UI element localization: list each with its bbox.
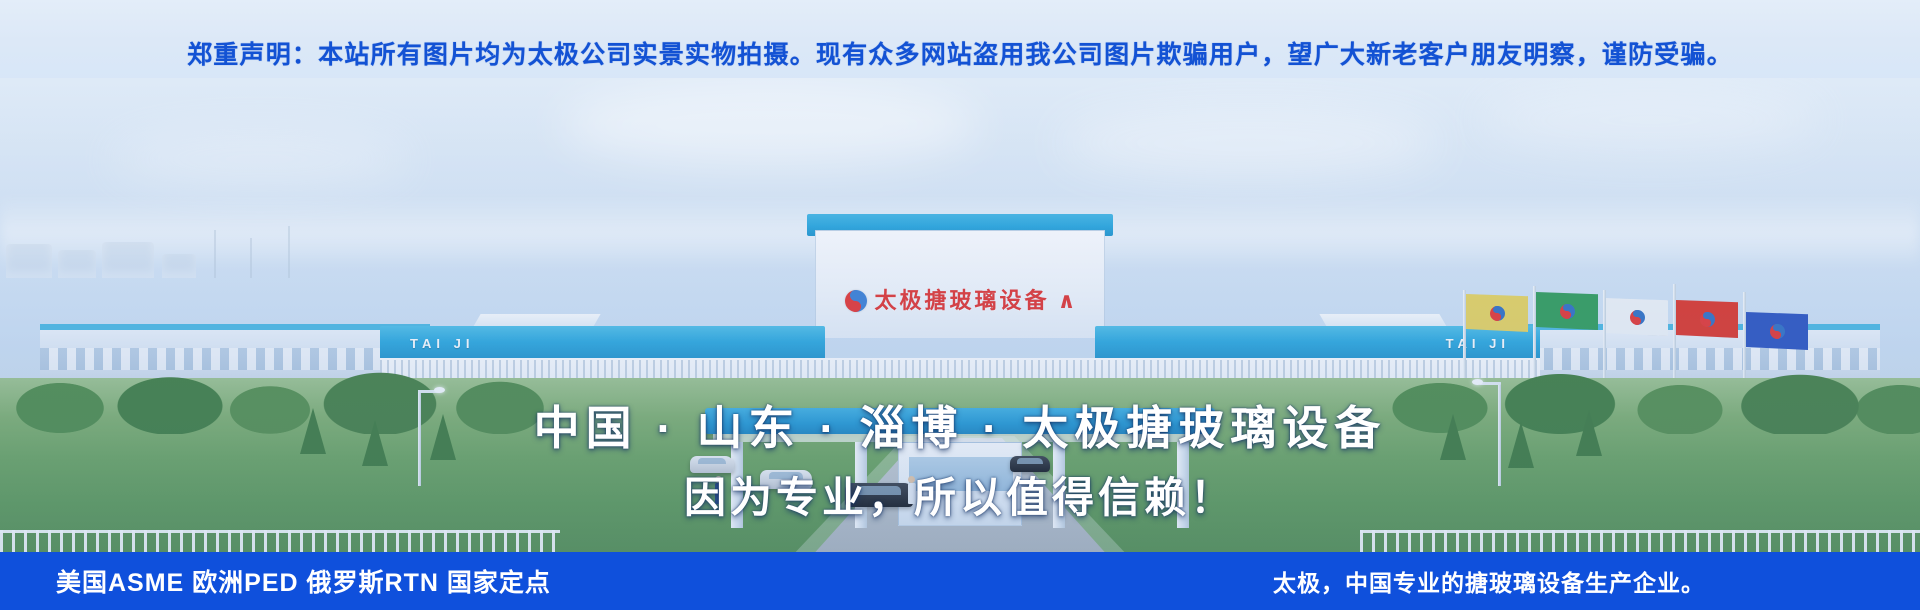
disclaimer-text: 郑重声明：本站所有图片均为太极公司实景实物拍摄。现有众多网站盗用我公司图片欺骗用… xyxy=(187,35,1733,71)
factory-photo: 太极搪玻璃设备 ∧ TAI JI TAI JI xyxy=(0,78,1920,558)
taiji-logo-icon xyxy=(845,290,867,312)
company-tagline: 太极，中国专业的搪玻璃设备生产企业。 xyxy=(1273,564,1705,598)
gate-canopy xyxy=(705,408,1215,434)
flag-yellow xyxy=(1466,294,1528,332)
light-pole xyxy=(418,390,421,486)
street-lamp-icon xyxy=(434,387,445,393)
cloud-decor xyxy=(1480,88,1820,152)
cloud-decor xyxy=(110,130,410,188)
guard-booth xyxy=(898,442,1022,526)
car-silver xyxy=(760,470,812,489)
person-figure xyxy=(715,476,722,504)
certification-text: 美国ASME 欧洲PED 俄罗斯RTN 国家定点 xyxy=(56,563,551,599)
taiji-logo-icon xyxy=(1560,304,1575,319)
flag-red xyxy=(1676,300,1738,338)
conifer-tree xyxy=(430,414,456,460)
light-pole xyxy=(1498,382,1501,486)
background-industrial-silhouette xyxy=(0,218,340,278)
car-dark xyxy=(845,483,913,507)
conifer-tree xyxy=(1508,422,1534,468)
taiji-logo-icon xyxy=(1490,306,1505,321)
taiji-logo-icon xyxy=(1700,312,1715,327)
taiji-logo-icon xyxy=(1770,324,1785,339)
roof-mark-icon: ∧ xyxy=(1058,290,1076,312)
flag-green xyxy=(1536,292,1598,330)
gate-canopy-underside xyxy=(713,434,1207,442)
building-sign: 太极搪玻璃设备 ∧ xyxy=(840,284,1080,318)
conifer-tree xyxy=(362,420,388,466)
conifer-tree xyxy=(300,408,326,454)
cloud-decor xyxy=(1060,108,1440,178)
wing-label-left: TAI JI xyxy=(410,336,474,351)
car-silver xyxy=(690,456,734,473)
conifer-tree xyxy=(1576,410,1602,456)
taiji-logo-icon xyxy=(1630,310,1645,325)
building-wing-left: TAI JI xyxy=(380,326,825,360)
guard-booth-window xyxy=(909,457,1013,491)
car-dark xyxy=(1010,456,1050,472)
conifer-tree xyxy=(1440,414,1466,460)
footer-bar: 美国ASME 欧洲PED 俄罗斯RTN 国家定点 太极，中国专业的搪玻璃设备生产… xyxy=(0,552,1920,610)
building-sign-text: 太极搪玻璃设备 xyxy=(875,290,1050,312)
cloud-decor xyxy=(560,82,980,168)
flag-white xyxy=(1606,298,1668,336)
flag-blue xyxy=(1746,312,1808,350)
banner-stage: 郑重声明：本站所有图片均为太极公司实景实物拍摄。现有众多网站盗用我公司图片欺骗用… xyxy=(0,0,1920,610)
street-lamp-icon xyxy=(1472,379,1483,385)
person-figure xyxy=(908,476,915,504)
main-factory-building: 太极搪玻璃设备 ∧ TAI JI TAI JI xyxy=(380,230,1540,380)
